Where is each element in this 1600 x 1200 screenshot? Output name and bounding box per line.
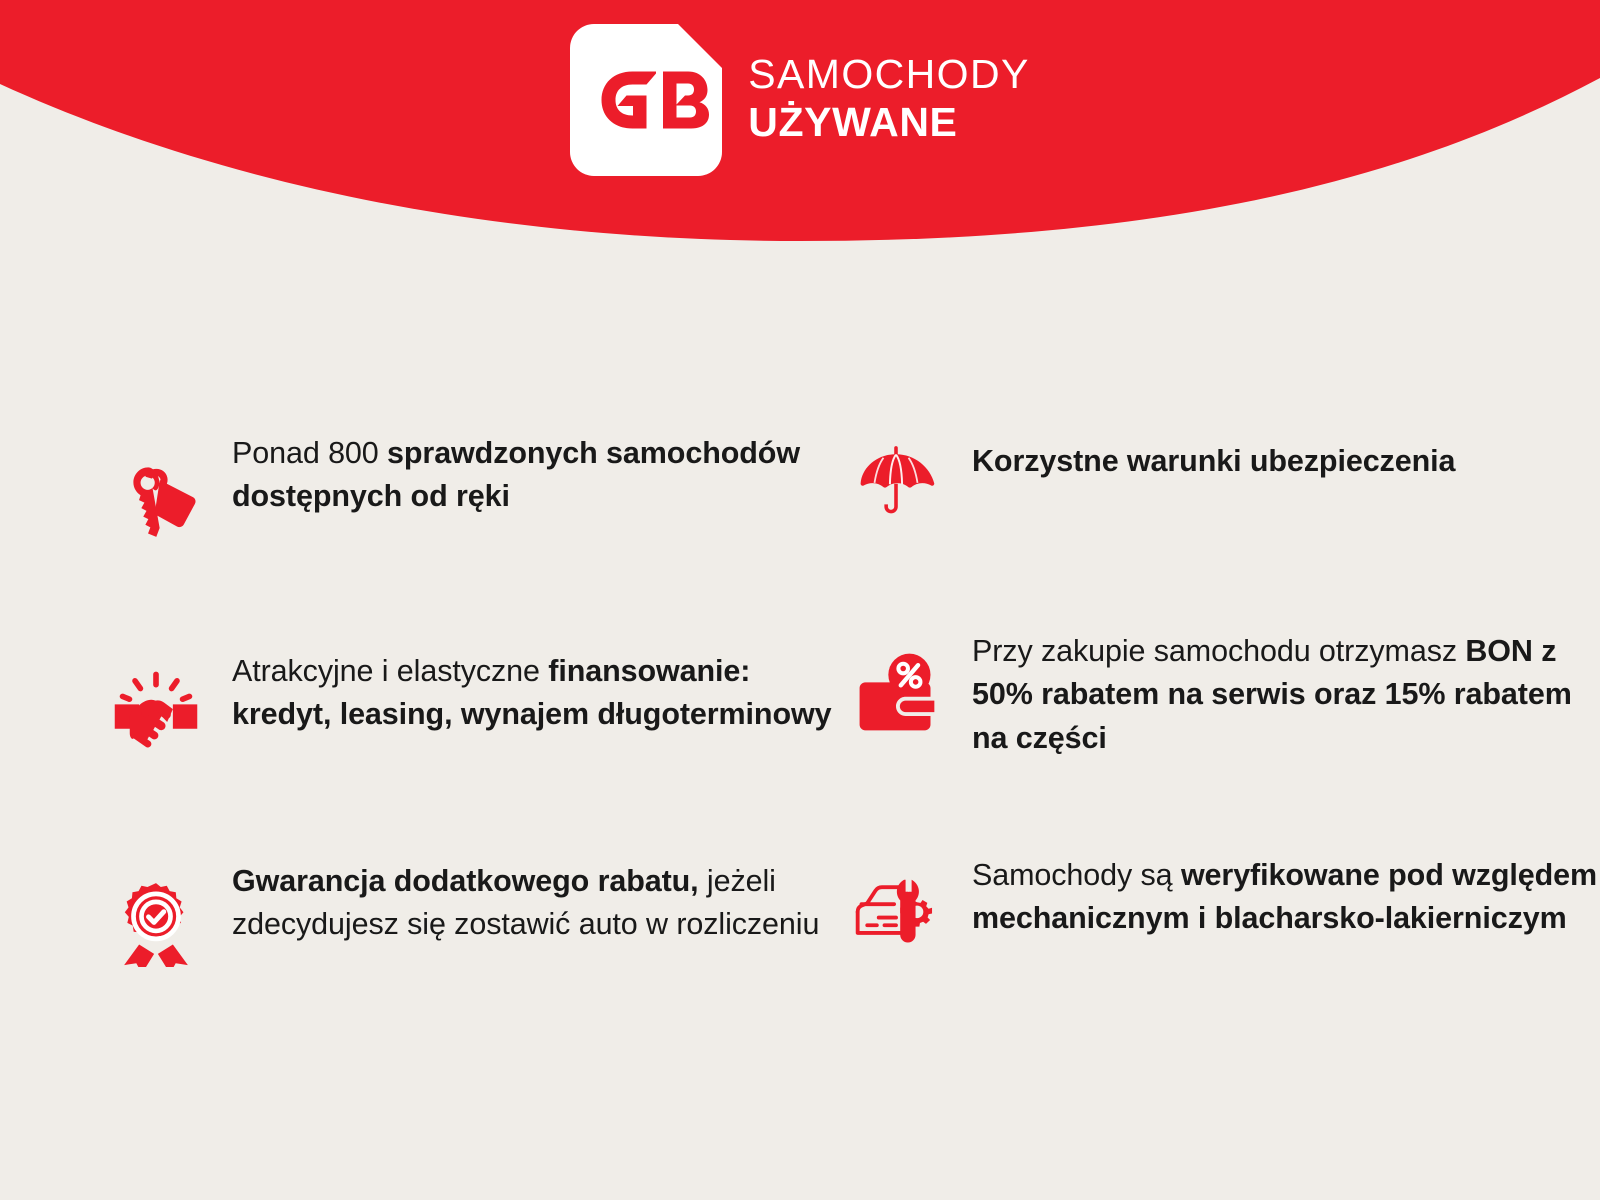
feature-column-left: Ponad 800 sprawdzonych samochodów dostęp… xyxy=(108,430,848,970)
brand-title: SAMOCHODY UŻYWANE xyxy=(748,54,1029,147)
feature-text-trade-in-discount: Gwarancja dodatkowego rabatu, jeżeli zde… xyxy=(232,858,848,947)
feature-text-service-voucher: Przy zakupie samochodu otrzymasz BON z 5… xyxy=(972,628,1600,760)
feature-text-segment-bold: Korzystne warunki ubezpieczenia xyxy=(972,444,1455,478)
feature-text-segment: Ponad 800 xyxy=(232,436,387,470)
handshake-icon xyxy=(108,662,204,758)
feature-column-right: Korzystne warunki ubezpieczenia xyxy=(848,430,1600,970)
wallet-percent-icon xyxy=(848,644,944,740)
feature-grid: Ponad 800 sprawdzonych samochodów dostęp… xyxy=(0,430,1600,970)
award-badge-icon xyxy=(108,874,204,970)
brand-lockup: SAMOCHODY UŻYWANE xyxy=(0,0,1600,200)
car-wrench-icon xyxy=(848,860,944,956)
brand-title-line2: UŻYWANE xyxy=(748,102,1029,143)
feature-item-financing: Atrakcyjne i elastyczne finansowanie: kr… xyxy=(108,648,848,758)
gb-logo-mark[interactable] xyxy=(570,24,722,176)
feature-text-segment: Atrakcyjne i elastyczne xyxy=(232,654,548,688)
feature-text-insurance: Korzystne warunki ubezpieczenia xyxy=(972,438,1455,483)
header-banner: SAMOCHODY UŻYWANE xyxy=(0,0,1600,260)
feature-item-verification: Samochody są weryfikowane pod względem m… xyxy=(848,852,1600,956)
feature-text-verification: Samochody są weryfikowane pod względem m… xyxy=(972,852,1600,941)
feature-text-financing: Atrakcyjne i elastyczne finansowanie: kr… xyxy=(232,648,848,737)
umbrella-icon xyxy=(848,434,944,530)
feature-item-service-voucher: Przy zakupie samochodu otrzymasz BON z 5… xyxy=(848,628,1600,760)
feature-item-trade-in-discount: Gwarancja dodatkowego rabatu, jeżeli zde… xyxy=(108,858,848,970)
feature-text-cars-available: Ponad 800 sprawdzonych samochodów dostęp… xyxy=(232,430,848,519)
feature-item-cars-available: Ponad 800 sprawdzonych samochodów dostęp… xyxy=(108,430,848,548)
brand-title-line1: SAMOCHODY xyxy=(748,54,1029,95)
feature-item-insurance: Korzystne warunki ubezpieczenia xyxy=(848,438,1600,530)
feature-text-segment: Samochody są xyxy=(972,858,1181,892)
feature-text-segment: Przy zakupie samochodu otrzymasz xyxy=(972,634,1465,668)
feature-text-segment-bold: Gwarancja dodatkowego rabatu, xyxy=(232,864,699,898)
keys-icon xyxy=(108,452,204,548)
